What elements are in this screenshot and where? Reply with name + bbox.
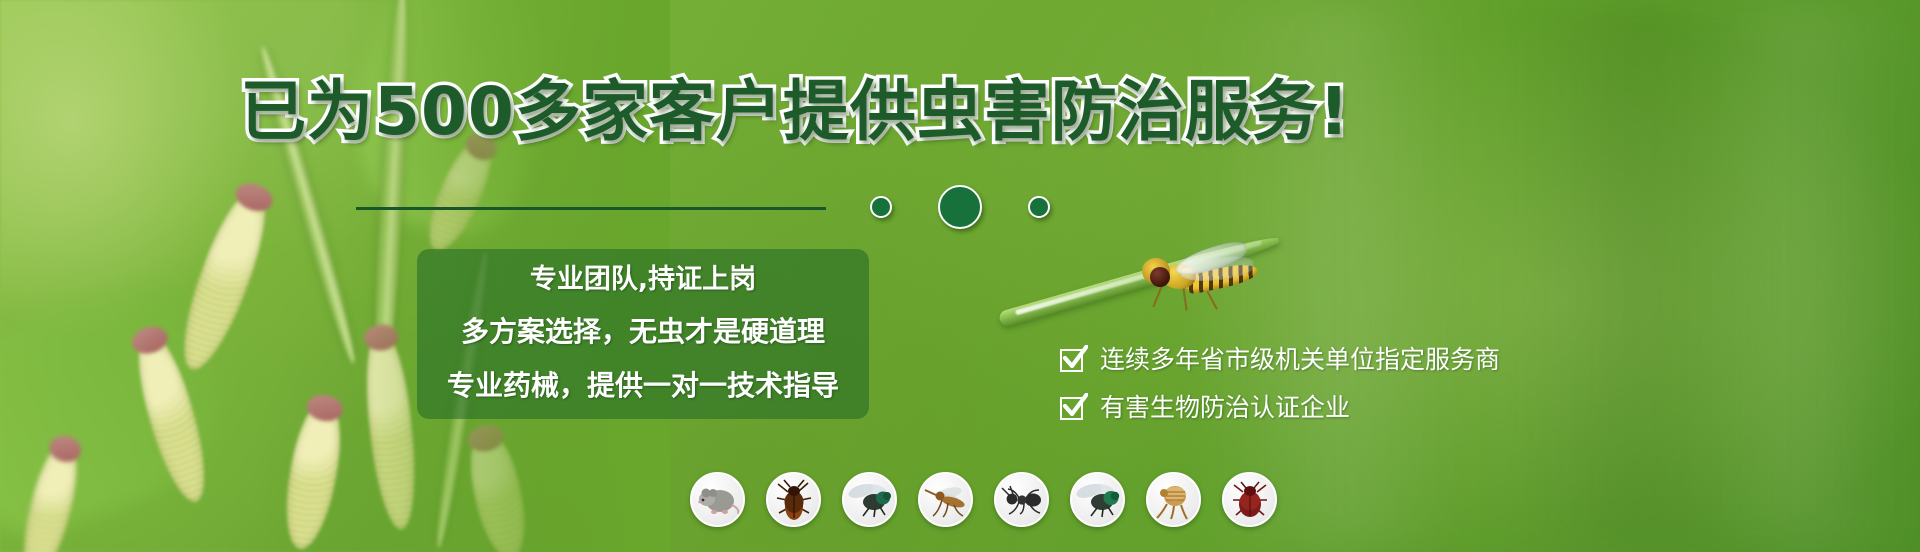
pest-control-hero-banner: 已为500多家客户提供虫害防治服务! 专业团队,持证上岗 多方案选择，无虫才是硬… <box>0 0 1920 552</box>
certification-list: 连续多年省市级机关单位指定服务商 有害生物防治认证企业 <box>1060 336 1500 432</box>
flea-icon[interactable] <box>1146 472 1201 527</box>
breadcrumb-divider <box>356 207 826 210</box>
pest-icon-strip <box>690 472 1277 527</box>
checkbox-checked-icon <box>1060 395 1086 421</box>
decorative-dot-small-right <box>1028 196 1050 218</box>
certification-label: 有害生物防治认证企业 <box>1100 393 1350 423</box>
blowfly-icon[interactable] <box>1070 472 1125 527</box>
ant-icon[interactable] <box>994 472 1049 527</box>
selling-point-line-1: 专业团队,持证上岗 <box>530 257 756 303</box>
housefly-icon[interactable] <box>842 472 897 527</box>
bedbug-icon[interactable] <box>1222 472 1277 527</box>
hoverfly-icon <box>1128 250 1258 306</box>
mosquito-icon[interactable] <box>918 472 973 527</box>
certification-label: 连续多年省市级机关单位指定服务商 <box>1100 345 1500 375</box>
cockroach-icon[interactable] <box>766 472 821 527</box>
decorative-dot-small-left <box>870 196 892 218</box>
selling-point-line-3: 专业药械，提供一对一技术指导 <box>447 361 839 411</box>
selling-points-panel: 专业团队,持证上岗 多方案选择，无虫才是硬道理 专业药械，提供一对一技术指导 <box>417 249 869 419</box>
selling-point-line-2: 多方案选择，无虫才是硬道理 <box>461 307 825 357</box>
page-title-text: 已为500多家客户提供虫害防治服务! <box>240 73 1350 151</box>
list-item: 连续多年省市级机关单位指定服务商 <box>1060 336 1500 384</box>
rodent-icon[interactable] <box>690 472 745 527</box>
list-item: 有害生物防治认证企业 <box>1060 384 1500 432</box>
page-title: 已为500多家客户提供虫害防治服务! <box>300 72 1290 152</box>
decorative-dot-large-center <box>938 185 982 229</box>
checkbox-checked-icon <box>1060 347 1086 373</box>
